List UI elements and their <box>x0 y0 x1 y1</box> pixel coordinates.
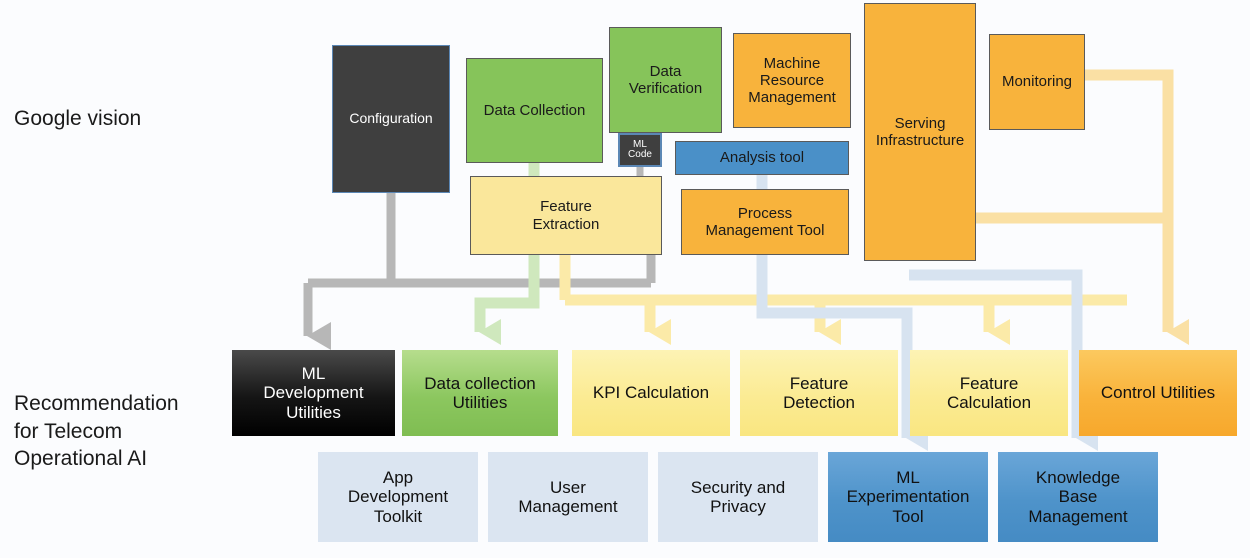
node-app-development-toolkit[interactable]: AppDevelopmentToolkit <box>318 452 478 542</box>
node-configuration[interactable]: Configuration <box>332 45 450 193</box>
node-analysis-tool[interactable]: Analysis tool <box>675 141 849 175</box>
node-user-management-label: UserManagement <box>514 478 621 517</box>
node-feature-extraction[interactable]: FeatureExtraction <box>470 176 662 255</box>
node-kpi-calculation[interactable]: KPI Calculation <box>572 350 730 436</box>
node-ml-code-label: MLCode <box>624 140 656 161</box>
node-feature-calculation[interactable]: FeatureCalculation <box>910 350 1068 436</box>
node-process-management-tool[interactable]: ProcessManagement Tool <box>681 189 849 255</box>
node-ml-experimentation-tool[interactable]: MLExperimentationTool <box>828 452 988 542</box>
node-feature-detection[interactable]: FeatureDetection <box>740 350 898 436</box>
node-knowledge-base-management[interactable]: KnowledgeBaseManagement <box>998 452 1158 542</box>
node-feature-calculation-label: FeatureCalculation <box>943 374 1035 413</box>
node-feature-extraction-label: FeatureExtraction <box>529 198 604 232</box>
node-control-utilities-label: Control Utilities <box>1097 383 1219 402</box>
row-label-recommendation-line2: for Telecom <box>14 418 179 446</box>
wire-orange-monitoring <box>1085 75 1168 300</box>
node-ml-experimentation-tool-label: MLExperimentationTool <box>843 468 974 526</box>
node-kpi-calculation-label: KPI Calculation <box>589 383 713 402</box>
node-machine-resource-management-label: MachineResourceManagement <box>744 55 840 106</box>
row-label-recommendation-line3: Operational AI <box>14 445 179 473</box>
node-app-development-toolkit-label: AppDevelopmentToolkit <box>344 468 452 526</box>
node-user-management[interactable]: UserManagement <box>488 452 648 542</box>
node-security-and-privacy-label: Security andPrivacy <box>687 478 790 517</box>
node-configuration-label: Configuration <box>345 111 436 127</box>
diagram-canvas: Google vision Recommendation for Telecom… <box>0 0 1250 558</box>
node-monitoring-label: Monitoring <box>998 73 1076 90</box>
node-serving-infrastructure[interactable]: ServingInfrastructure <box>864 3 976 261</box>
node-monitoring[interactable]: Monitoring <box>989 34 1085 130</box>
node-data-collection-utilities-label: Data collectionUtilities <box>420 374 540 413</box>
node-feature-detection-label: FeatureDetection <box>779 374 859 413</box>
node-knowledge-base-management-label: KnowledgeBaseManagement <box>1024 468 1131 526</box>
row-label-recommendation-line1: Recommendation <box>14 390 179 418</box>
node-ml-development-utilities-label: MLDevelopmentUtilities <box>259 364 367 422</box>
node-ml-code[interactable]: MLCode <box>618 133 662 167</box>
node-machine-resource-management[interactable]: MachineResourceManagement <box>733 33 851 128</box>
node-control-utilities[interactable]: Control Utilities <box>1079 350 1237 436</box>
node-serving-infrastructure-label: ServingInfrastructure <box>872 115 968 149</box>
node-ml-development-utilities[interactable]: MLDevelopmentUtilities <box>232 350 395 436</box>
node-process-management-tool-label: ProcessManagement Tool <box>702 205 829 239</box>
node-analysis-tool-label: Analysis tool <box>716 149 808 166</box>
node-security-and-privacy[interactable]: Security andPrivacy <box>658 452 818 542</box>
node-data-collection-utilities[interactable]: Data collectionUtilities <box>402 350 558 436</box>
node-data-verification[interactable]: DataVerification <box>609 27 722 133</box>
node-data-collection[interactable]: Data Collection <box>466 58 603 163</box>
row-label-recommendation: Recommendation for Telecom Operational A… <box>14 390 179 473</box>
row-label-google-vision: Google vision <box>14 105 141 133</box>
node-data-verification-label: DataVerification <box>625 63 706 97</box>
row-label-google-vision-text: Google vision <box>14 107 141 130</box>
node-data-collection-label: Data Collection <box>480 102 590 119</box>
